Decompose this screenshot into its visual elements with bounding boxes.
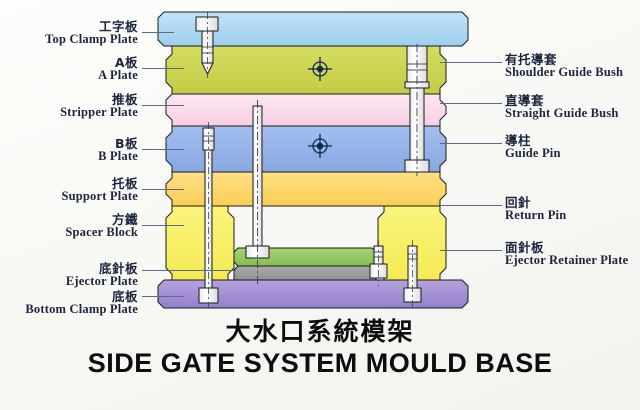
label-en: Ejector Plate — [8, 275, 138, 288]
label-shoulder-guide-bush: 有托導套 Shoulder Guide Bush — [505, 53, 623, 79]
title-chinese: 大水口系統模架 — [0, 312, 640, 348]
leader-ejector-retainer-plate — [440, 250, 502, 251]
label-en: Top Clamp Plate — [8, 33, 138, 46]
label-return-pin: 回針 Return Pin — [505, 196, 566, 222]
leader-support-plate — [142, 189, 184, 190]
leader-stripper-plate — [142, 105, 184, 106]
leader-guide-pin — [440, 143, 502, 144]
label-en: Support Plate — [8, 190, 138, 203]
label-en: B Plate — [8, 150, 138, 163]
label-en: Straight Guide Bush — [505, 107, 619, 120]
label-guide-pin: 導柱 Guide Pin — [505, 134, 561, 160]
leader-a-plate — [142, 68, 184, 69]
part-spacer-block-left — [166, 206, 234, 280]
label-ejector-plate: 底針板 Ejector Plate — [8, 262, 138, 288]
label-stripper-plate: 推板 Stripper Plate — [8, 93, 138, 119]
label-a-plate: A板 A Plate — [8, 56, 138, 82]
label-top-clamp-plate: 工字板 Top Clamp Plate — [8, 20, 138, 46]
leader-ejector-plate — [142, 270, 236, 271]
label-support-plate: 托板 Support Plate — [8, 177, 138, 203]
label-spacer-block: 方鐵 Spacer Block — [8, 213, 138, 239]
label-en: Ejector Retainer Plate — [505, 254, 628, 267]
label-straight-guide-bush: 直導套 Straight Guide Bush — [505, 94, 619, 120]
leader-top-clamp-plate — [142, 32, 174, 33]
label-b-plate: B板 B Plate — [8, 137, 138, 163]
label-en: Shoulder Guide Bush — [505, 66, 623, 79]
label-en: Guide Pin — [505, 147, 561, 160]
label-ejector-retainer-plate: 面針板 Ejector Retainer Plate — [505, 241, 628, 267]
label-en: A Plate — [8, 69, 138, 82]
label-en: Stripper Plate — [8, 106, 138, 119]
leader-b-plate — [142, 149, 184, 150]
leader-return-pin — [440, 205, 502, 206]
leader-straight-guide-bush — [440, 103, 502, 104]
leader-spacer-block — [142, 225, 184, 226]
label-en: Return Pin — [505, 209, 566, 222]
leader-shoulder-guide-bush — [440, 62, 502, 63]
part-stripper-plate — [166, 94, 446, 126]
title-english: SIDE GATE SYSTEM MOULD BASE — [0, 348, 640, 379]
leader-bottom-clamp-plate — [142, 296, 184, 297]
diagram-page: 工字板 Top Clamp Plate A板 A Plate 推板 Stripp… — [0, 0, 640, 410]
label-en: Spacer Block — [8, 226, 138, 239]
